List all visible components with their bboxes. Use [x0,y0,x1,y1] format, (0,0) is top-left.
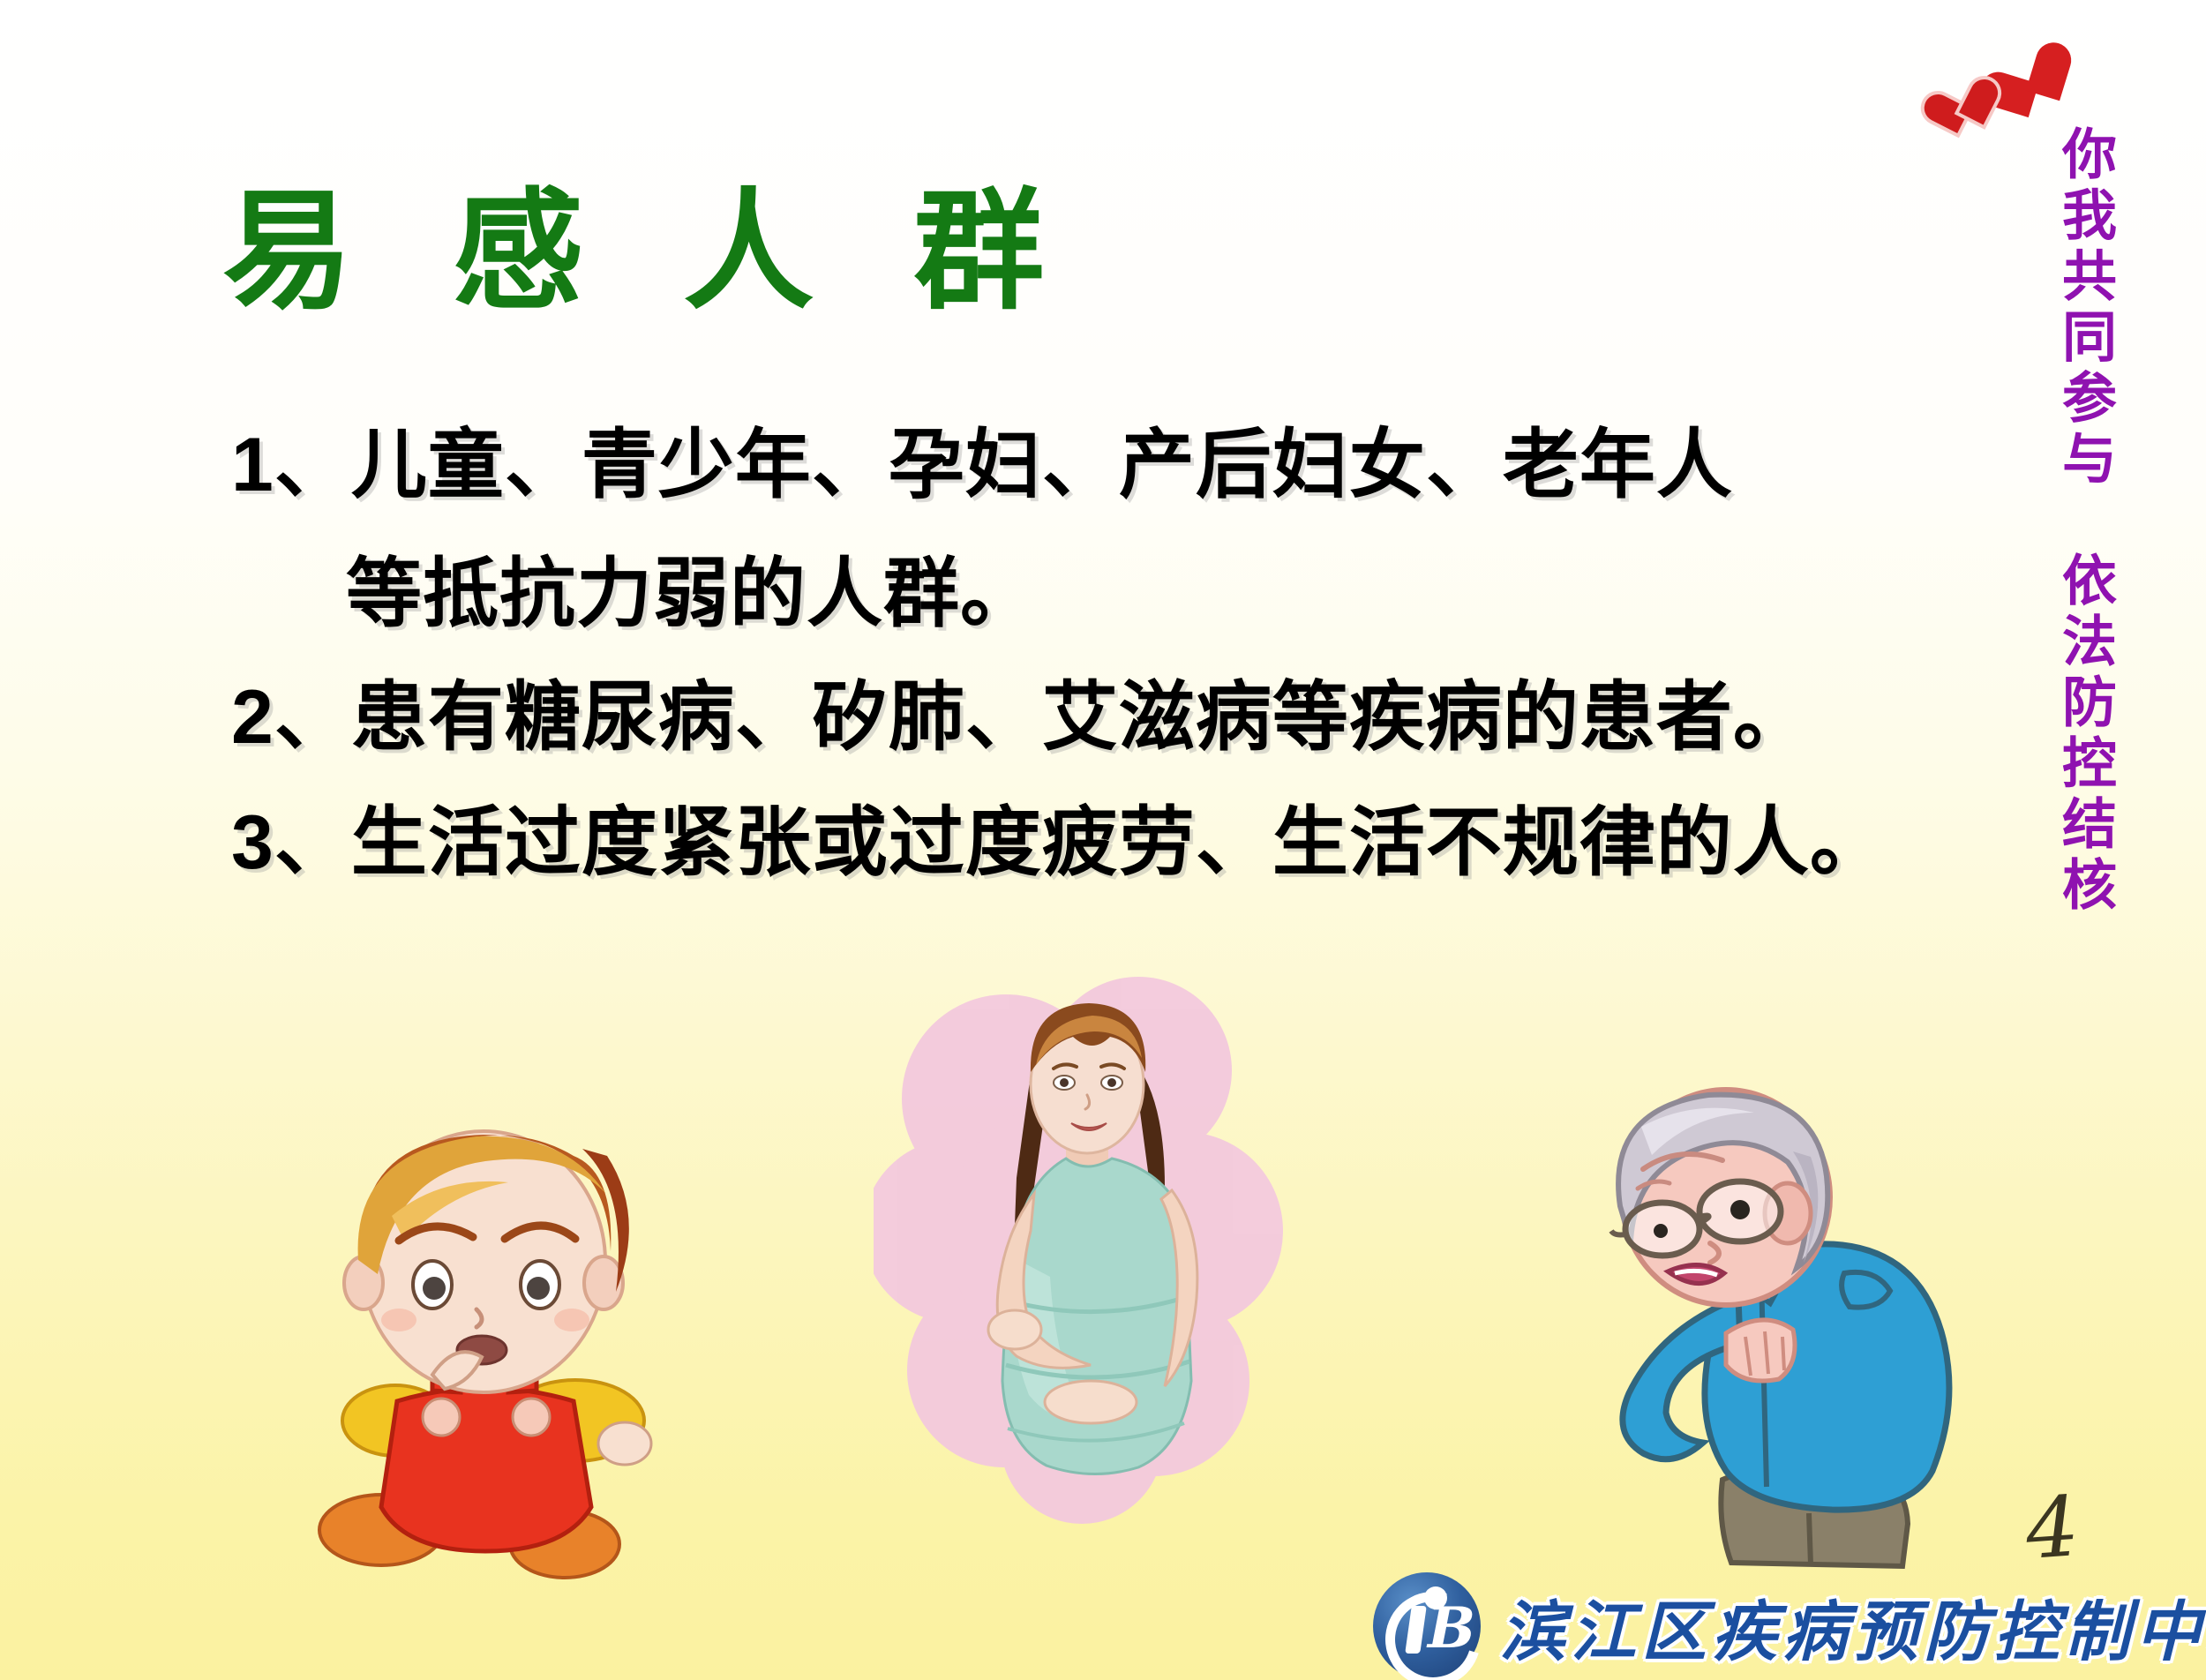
page-number: 4 [2022,1479,2082,1579]
vertical-slogan: 你我共同参与 依法防控结核 [2010,125,2116,917]
heart-small-icon [1921,86,1984,148]
bullet-item-1: 1、儿童、青少年、孕妇、产后妇女、老年人 [231,427,1733,503]
illustration-pregnant-woman [874,966,1288,1584]
cdc-logo-icon: B [1373,1572,1481,1680]
slide-canvas: 易 感 人 群 1、儿童、青少年、孕妇、产后妇女、老年人 等抵抗力弱的人群。 2… [0,0,2206,1680]
footer-logo-bar: B 滨江区疾病预防控制中心 [1373,1572,2206,1680]
page-title: 易 感 人 群 [222,187,1076,318]
bullet-item-2: 2、患有糖尿病、矽肺、艾滋病等疾病的患者。 [231,679,1810,755]
organization-name: 滨江区疾病预防控制中心 [1500,1579,2206,1674]
logo-b-letter: B [1428,1601,1475,1657]
illustration-child [300,1110,671,1591]
bullet-item-1-cont: 等抵抗力弱的人群。 [346,556,1037,632]
bullet-item-3: 3、生活过度紧张或过度疲劳、生活不规律的人。 [231,805,1887,881]
illustration-elderly-woman [1562,1072,1968,1593]
